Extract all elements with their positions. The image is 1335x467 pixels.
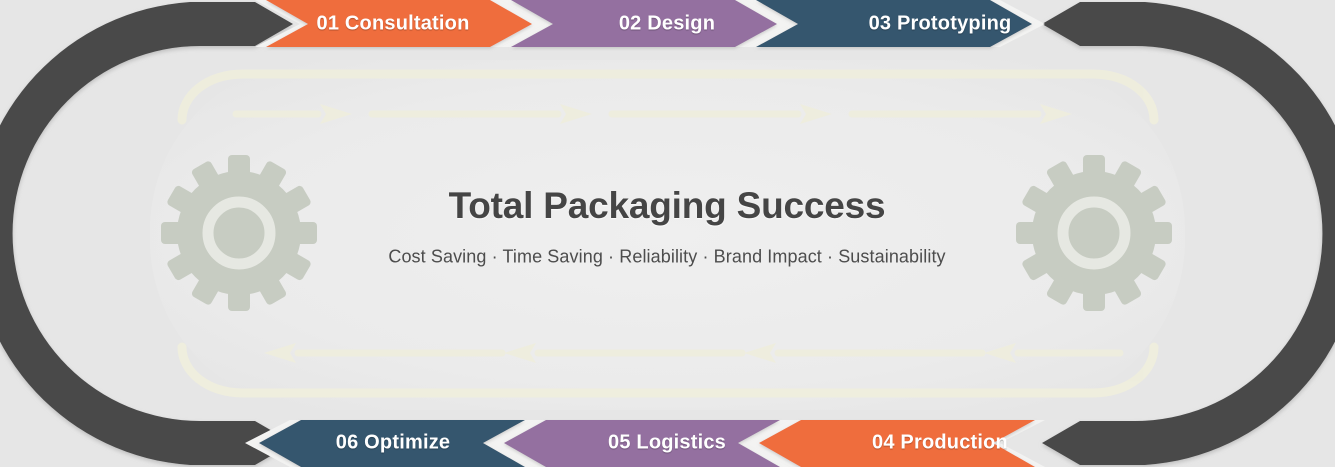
- center-subtitle: Cost Saving · Time Saving · Reliability …: [388, 247, 945, 268]
- step-chevron-04[interactable]: [759, 420, 1035, 467]
- top-step-row: [255, 0, 1045, 47]
- center-title: Total Packaging Success: [449, 185, 886, 227]
- step-chevron-05[interactable]: [504, 420, 780, 467]
- bottom-step-row: [245, 420, 1045, 467]
- process-cycle-diagram: [0, 0, 1335, 467]
- step-chevron-03[interactable]: [756, 0, 1032, 47]
- infographic-canvas: 01 Consultation 02 Design 03 Prototyping…: [0, 0, 1335, 467]
